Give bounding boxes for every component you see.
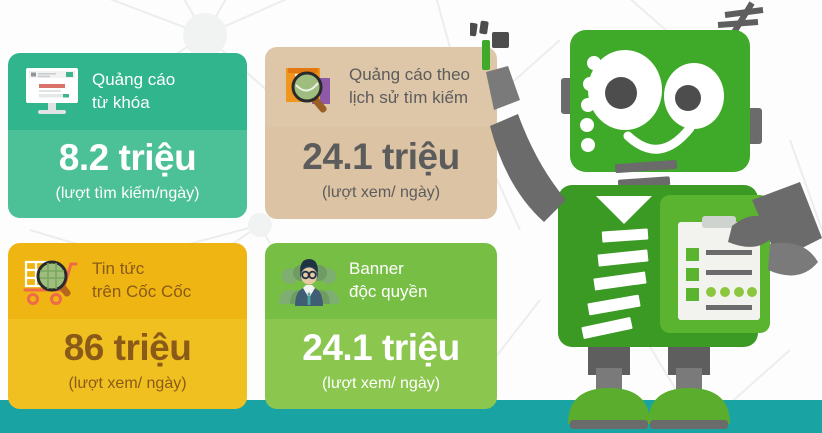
shopping-bag-magnifier-icon xyxy=(277,55,341,119)
card-value: 8.2 triệu xyxy=(59,139,196,178)
people-group-icon xyxy=(277,249,341,313)
card-header: Quảng cáo theo lịch sử tìm kiếm xyxy=(265,47,497,127)
card-title: Quảng cáo theo lịch sử tìm kiếm xyxy=(341,64,487,110)
card-value: 24.1 triệu xyxy=(302,329,459,368)
card-coccoc-news[interactable]: Tin tức trên Cốc Cốc 86 triệu (lượt xem/… xyxy=(8,243,247,409)
card-title: Banner độc quyền xyxy=(341,258,487,304)
card-unit: (lượt xem/ ngày) xyxy=(68,374,186,393)
desktop-monitor-search-icon xyxy=(20,60,84,124)
card-body: 24.1 triệu (lượt xem/ ngày) xyxy=(265,127,497,219)
card-body: 8.2 triệu (lượt tìm kiếm/ngày) xyxy=(8,130,247,218)
card-unit: (lượt tìm kiếm/ngày) xyxy=(56,184,200,203)
card-unit: (lượt xem/ ngày) xyxy=(322,183,440,202)
shopping-cart-magnifier-icon xyxy=(20,249,84,313)
card-header: Quảng cáo từ khóa xyxy=(8,53,247,130)
card-value: 24.1 triệu xyxy=(302,138,459,177)
card-unit: (lượt xem/ ngày) xyxy=(322,374,440,393)
robot-arm-holding-card xyxy=(470,0,822,433)
card-keyword-ads[interactable]: Quảng cáo từ khóa 8.2 triệu (lượt tìm ki… xyxy=(8,53,247,218)
card-header: Tin tức trên Cốc Cốc xyxy=(8,243,247,319)
card-exclusive-banner[interactable]: Banner độc quyền 24.1 triệu (lượt xem/ n… xyxy=(265,243,497,409)
card-body: 24.1 triệu (lượt xem/ ngày) xyxy=(265,319,497,409)
card-title: Tin tức trên Cốc Cốc xyxy=(84,258,237,304)
card-value: 86 triệu xyxy=(64,329,192,368)
card-search-history-ads[interactable]: Quảng cáo theo lịch sử tìm kiếm 24.1 tri… xyxy=(265,47,497,219)
infographic-canvas: Quảng cáo từ khóa 8.2 triệu (lượt tìm ki… xyxy=(0,0,822,433)
card-header: Banner độc quyền xyxy=(265,243,497,319)
card-body: 86 triệu (lượt xem/ ngày) xyxy=(8,319,247,409)
card-title: Quảng cáo từ khóa xyxy=(84,69,237,115)
